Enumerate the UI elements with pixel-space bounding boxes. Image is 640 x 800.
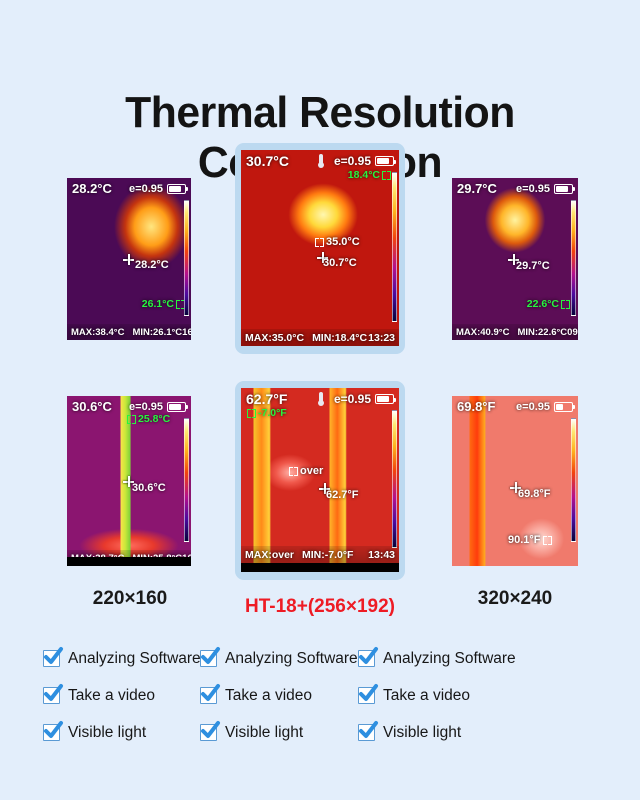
min-temperature-marker: 18.4°C xyxy=(348,169,391,181)
status-max: MAX:40.9°C xyxy=(456,327,509,338)
emissivity-value: e=0.95 xyxy=(334,392,371,406)
camera-shot-bottom-right: 69.8°F e=0.95 69.8°F 90.1°F xyxy=(452,396,578,566)
hot-temperature-value: 90.1°F xyxy=(508,534,541,546)
status-max: MAX:38.4°C xyxy=(71,327,124,338)
camera-shot-top-center: 30.7°C e=0.95 18.4°C 35.0°C 30.7°C xyxy=(241,150,399,346)
color-scale-bar xyxy=(571,418,576,542)
hot-spot-marker: over xyxy=(289,465,323,477)
hot-spot-marker: 35.0°C xyxy=(315,236,360,248)
checkbox-checked-icon[interactable] xyxy=(358,650,375,667)
min-temperature-marker: -7.0°F xyxy=(247,407,287,419)
resolution-label-right: 320×240 xyxy=(420,588,610,610)
resolution-label-center: HT-18+(256×192) xyxy=(240,596,400,618)
checkbox-checked-icon[interactable] xyxy=(358,724,375,741)
resolution-label-left: 220×160 xyxy=(40,588,220,610)
status-time: 09:00 xyxy=(567,327,578,338)
emissivity-value: e=0.95 xyxy=(129,401,163,413)
camera-shot-top-right: 29.7°C e=0.95 29.7°C 22.6°C MAX:40.9°C M… xyxy=(452,178,578,340)
featured-highlight-frame: 62.7°F e=0.95 -7.0°F over 62.7°F xyxy=(235,381,405,580)
feature-label: Take a video xyxy=(68,687,155,705)
status-bar: MAX:35.0°C MIN:18.4°C 13:23 xyxy=(241,329,399,346)
color-scale-bar xyxy=(571,200,576,316)
feature-label: Take a video xyxy=(383,687,470,705)
feature-list-left: Analyzing Software Take a video Visible … xyxy=(43,640,201,751)
checkbox-checked-icon[interactable] xyxy=(200,650,217,667)
feature-label: Analyzing Software xyxy=(383,650,516,668)
color-scale-bar xyxy=(184,418,189,542)
feature-list-right: Analyzing Software Take a video Visible … xyxy=(358,640,516,751)
checkbox-checked-icon[interactable] xyxy=(200,724,217,741)
min-temperature-value: 22.6°C xyxy=(527,298,559,310)
color-scale-bar xyxy=(392,410,397,548)
min-temperature-value: 26.1°C xyxy=(142,298,174,310)
thermometer-icon xyxy=(318,392,324,406)
thermometer-icon xyxy=(318,154,324,168)
status-bar: MAX:40.9°C MIN:22.6°C 09:00 xyxy=(452,324,578,340)
status-max: MAX:over xyxy=(245,549,294,561)
feature-item[interactable]: Analyzing Software xyxy=(200,640,358,677)
checkbox-checked-icon[interactable] xyxy=(43,687,60,704)
checkbox-checked-icon[interactable] xyxy=(43,724,60,741)
center-temperature-label: 69.8°F xyxy=(518,488,551,500)
min-bracket-icon xyxy=(561,300,570,309)
camera-hud: 29.7°C e=0.95 29.7°C 22.6°C MAX:40.9°C M… xyxy=(452,178,578,340)
status-max: MAX:35.0°C xyxy=(245,332,304,344)
min-bracket-icon xyxy=(382,171,391,180)
status-min: MIN:18.4°C xyxy=(312,332,367,344)
min-temperature-value: -7.0°F xyxy=(258,407,287,419)
checkbox-checked-icon[interactable] xyxy=(358,687,375,704)
hot-bracket-icon xyxy=(315,238,324,247)
center-temperature-label: 28.2°C xyxy=(135,259,169,271)
min-temperature-marker: 25.8°C xyxy=(127,413,170,425)
camera-hud: 62.7°F e=0.95 -7.0°F over 62.7°F xyxy=(241,388,399,572)
min-temperature-marker: 22.6°C xyxy=(527,298,570,310)
hot-bracket-icon xyxy=(289,467,298,476)
center-temperature-label: 29.7°C xyxy=(516,260,550,272)
hot-temperature-value: 35.0°C xyxy=(326,236,360,248)
temperature-reading: 30.6°C xyxy=(72,399,112,414)
battery-icon xyxy=(167,402,186,412)
battery-icon xyxy=(375,394,394,404)
feature-label: Analyzing Software xyxy=(225,650,358,668)
battery-icon xyxy=(167,184,186,194)
hot-temperature-value: over xyxy=(300,465,323,477)
status-bar: MAX:over MIN:-7.0°F 13:43 xyxy=(241,546,399,563)
battery-icon xyxy=(554,184,573,194)
center-temperature-label: 30.7°C xyxy=(323,257,357,269)
feature-item[interactable]: Visible light xyxy=(358,714,516,751)
camera-hud: 30.7°C e=0.95 18.4°C 35.0°C 30.7°C xyxy=(241,150,399,346)
emissivity-value: e=0.95 xyxy=(516,401,550,413)
center-crosshair-icon xyxy=(123,254,134,265)
temperature-reading: 29.7°C xyxy=(457,181,497,196)
comparison-page: Thermal Resolution Comparison 28.2°C e=0… xyxy=(0,0,640,800)
feature-label: Visible light xyxy=(225,724,303,742)
emissivity-value: e=0.95 xyxy=(129,183,163,195)
camera-hud: 69.8°F e=0.95 69.8°F 90.1°F xyxy=(452,396,578,566)
hot-bracket-icon xyxy=(543,536,552,545)
feature-label: Visible light xyxy=(68,724,146,742)
bottom-black-bar xyxy=(241,563,399,572)
camera-shot-bottom-center: 62.7°F e=0.95 -7.0°F over 62.7°F xyxy=(241,388,399,572)
min-temperature-value: 25.8°C xyxy=(138,413,170,425)
center-temperature-label: 62.7°F xyxy=(326,489,359,501)
checkbox-checked-icon[interactable] xyxy=(43,650,60,667)
status-min: MIN:-7.0°F xyxy=(302,549,353,561)
min-temperature-marker: 26.1°C xyxy=(142,298,185,310)
center-temperature-label: 30.6°C xyxy=(132,482,166,494)
battery-icon xyxy=(554,402,573,412)
status-time: 13:43 xyxy=(368,549,395,561)
battery-icon xyxy=(375,156,394,166)
checkbox-checked-icon[interactable] xyxy=(200,687,217,704)
feature-label: Analyzing Software xyxy=(68,650,201,668)
status-min: MIN:22.6°C xyxy=(517,327,567,338)
camera-hud: 28.2°C e=0.95 28.2°C 26.1°C MAX:38.4°C M… xyxy=(67,178,191,340)
emissivity-value: e=0.95 xyxy=(334,154,371,168)
min-bracket-icon xyxy=(247,409,256,418)
temperature-reading: 62.7°F xyxy=(246,391,287,407)
min-temperature-value: 18.4°C xyxy=(348,169,380,181)
temperature-reading: 69.8°F xyxy=(457,399,495,414)
camera-shot-top-left: 28.2°C e=0.95 28.2°C 26.1°C MAX:38.4°C M… xyxy=(67,178,191,340)
status-time: 16:05 xyxy=(182,327,191,338)
feature-label: Take a video xyxy=(225,687,312,705)
feature-item[interactable]: Visible light xyxy=(200,714,358,751)
feature-label: Visible light xyxy=(383,724,461,742)
temperature-reading: 28.2°C xyxy=(72,181,112,196)
emissivity-value: e=0.95 xyxy=(516,183,550,195)
status-time: 13:23 xyxy=(368,332,395,344)
temperature-reading: 30.7°C xyxy=(246,153,289,169)
camera-shot-bottom-left: 30.6°C e=0.95 25.8°C 30.6°C MAX:38.7°C M… xyxy=(67,396,191,566)
camera-hud: 30.6°C e=0.95 25.8°C 30.6°C MAX:38.7°C M… xyxy=(67,396,191,566)
feature-item[interactable]: Take a video xyxy=(200,677,358,714)
color-scale-bar xyxy=(392,172,397,322)
bottom-black-bar xyxy=(67,557,191,566)
feature-list-center: Analyzing Software Take a video Visible … xyxy=(200,640,358,751)
status-bar: MAX:38.4°C MIN:26.1°C 16:05 xyxy=(67,324,191,340)
feature-item[interactable]: Analyzing Software xyxy=(358,640,516,677)
feature-item[interactable]: Analyzing Software xyxy=(43,640,201,677)
feature-item[interactable]: Take a video xyxy=(358,677,516,714)
min-bracket-icon xyxy=(127,415,136,424)
feature-item[interactable]: Take a video xyxy=(43,677,201,714)
status-min: MIN:26.1°C xyxy=(132,327,182,338)
color-scale-bar xyxy=(184,200,189,316)
feature-item[interactable]: Visible light xyxy=(43,714,201,751)
featured-highlight-frame: 30.7°C e=0.95 18.4°C 35.0°C 30.7°C xyxy=(235,143,405,354)
hot-spot-marker: 90.1°F xyxy=(508,534,552,546)
